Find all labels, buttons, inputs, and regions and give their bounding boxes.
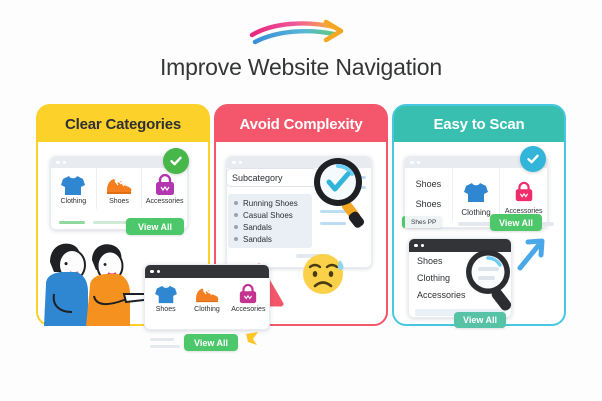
sneaker-icon bbox=[194, 284, 220, 304]
panel-easy-to-scan: Easy to Scan Shoes Shoes Clo bbox=[392, 104, 566, 326]
category-cell[interactable]: Shoes bbox=[97, 168, 143, 209]
subcategory-search-value: Subcategory bbox=[232, 173, 283, 183]
list-item[interactable]: Sandals bbox=[228, 221, 312, 233]
window-dot-icon bbox=[157, 270, 161, 274]
panel-title-clear-categories: Clear Categories bbox=[38, 106, 208, 142]
panel-body-clear-categories: Clothing Shoes bbox=[38, 142, 208, 326]
list-item[interactable]: Running Shoes bbox=[228, 197, 312, 209]
bullet-icon bbox=[234, 225, 238, 229]
magnifier-with-check-icon bbox=[308, 154, 374, 230]
sneaker-icon bbox=[105, 174, 133, 196]
window-dot-icon bbox=[63, 161, 67, 165]
bullet-icon bbox=[234, 201, 238, 205]
category-label: Accessories bbox=[144, 198, 185, 205]
handbag-icon bbox=[153, 174, 177, 196]
text-category-cell[interactable]: Shoes Shoes bbox=[405, 168, 453, 221]
window-dot-icon bbox=[239, 161, 243, 165]
category-label: Accesories bbox=[230, 306, 267, 313]
subcategory-search-field[interactable]: Subcategory bbox=[226, 168, 318, 187]
category-grid: Shoes Clothing bbox=[145, 278, 269, 317]
category-grid: Clothing Shoes bbox=[51, 168, 187, 209]
tshirt-icon bbox=[154, 284, 178, 304]
list-item-label: Sandals bbox=[243, 235, 272, 244]
category-cell[interactable]: Accesories bbox=[228, 278, 269, 317]
category-cell[interactable]: Accessories bbox=[142, 168, 187, 209]
category-label: Clothing bbox=[188, 306, 225, 313]
view-all-button-bottom[interactable]: View All bbox=[454, 312, 506, 328]
window-dot-icon bbox=[414, 244, 418, 248]
list-item[interactable]: Casual Shoes bbox=[228, 209, 312, 221]
header: Improve Website Navigation bbox=[0, 18, 602, 81]
list-item-label: Running Shoes bbox=[243, 199, 298, 208]
subcategory-list: Running Shoes Casual Shoes Sandals Sanda… bbox=[228, 194, 312, 248]
window-dot-icon bbox=[421, 244, 425, 248]
panel-clear-categories: Clear Categories Clothing bbox=[36, 104, 210, 326]
suggestion-chip[interactable]: Shes PP bbox=[402, 216, 442, 228]
handbag-icon bbox=[513, 181, 535, 203]
infographic-canvas: Improve Website Navigation Clear Categor… bbox=[0, 0, 602, 401]
category-label: Shoes bbox=[407, 174, 450, 194]
worried-sweat-face-icon bbox=[300, 250, 348, 298]
view-all-label: View All bbox=[463, 315, 497, 325]
browser-window-categories-secondary: Shoes Clothing bbox=[144, 264, 270, 330]
status-badge-check-blue bbox=[520, 146, 546, 172]
star-spark-icon bbox=[244, 330, 262, 348]
suggestion-chip-label: Shes PP bbox=[411, 219, 436, 226]
category-cell[interactable]: Clothing bbox=[51, 168, 97, 209]
view-all-label: View All bbox=[499, 218, 533, 228]
magnifier-icon bbox=[460, 246, 522, 318]
bullet-icon bbox=[234, 237, 238, 241]
browser-titlebar bbox=[145, 265, 269, 278]
multicolor-swoosh-arrow-icon bbox=[246, 18, 356, 52]
bullet-icon bbox=[234, 213, 238, 217]
view-all-label: View All bbox=[194, 338, 228, 348]
two-people-pointing-icon bbox=[32, 232, 152, 328]
handbag-icon bbox=[237, 284, 259, 304]
view-all-button-bottom[interactable]: View All bbox=[184, 334, 238, 351]
panel-title-avoid-complexity: Avoid Complexity bbox=[216, 106, 386, 142]
window-dot-icon bbox=[417, 161, 421, 165]
window-dot-icon bbox=[150, 270, 154, 274]
category-label: Shoes bbox=[147, 306, 184, 313]
category-label: Clothing bbox=[53, 198, 94, 205]
list-item[interactable]: Sandals bbox=[228, 233, 312, 245]
check-icon bbox=[169, 154, 183, 168]
window-dot-icon bbox=[410, 161, 414, 165]
category-cell[interactable]: Shoes bbox=[145, 278, 186, 317]
window-dot-icon bbox=[56, 161, 60, 165]
list-item-label: Casual Shoes bbox=[243, 211, 293, 220]
view-all-label: View All bbox=[138, 222, 172, 232]
category-cell[interactable]: Clothing bbox=[186, 278, 227, 317]
panel-title-easy-to-scan: Easy to Scan bbox=[394, 106, 564, 142]
page-title: Improve Website Navigation bbox=[0, 54, 602, 81]
list-item-label: Sandals bbox=[243, 223, 272, 232]
status-badge-check-green bbox=[163, 148, 189, 174]
category-label: Shoes bbox=[99, 198, 140, 205]
panel-body-easy-to-scan: Shoes Shoes Clothing bbox=[394, 142, 564, 326]
check-icon bbox=[526, 152, 540, 166]
tshirt-icon bbox=[463, 181, 489, 203]
category-label: Shoes bbox=[407, 194, 450, 214]
view-all-button-top[interactable]: View All bbox=[490, 214, 542, 231]
window-dot-icon bbox=[232, 161, 236, 165]
tshirt-icon bbox=[60, 174, 86, 196]
